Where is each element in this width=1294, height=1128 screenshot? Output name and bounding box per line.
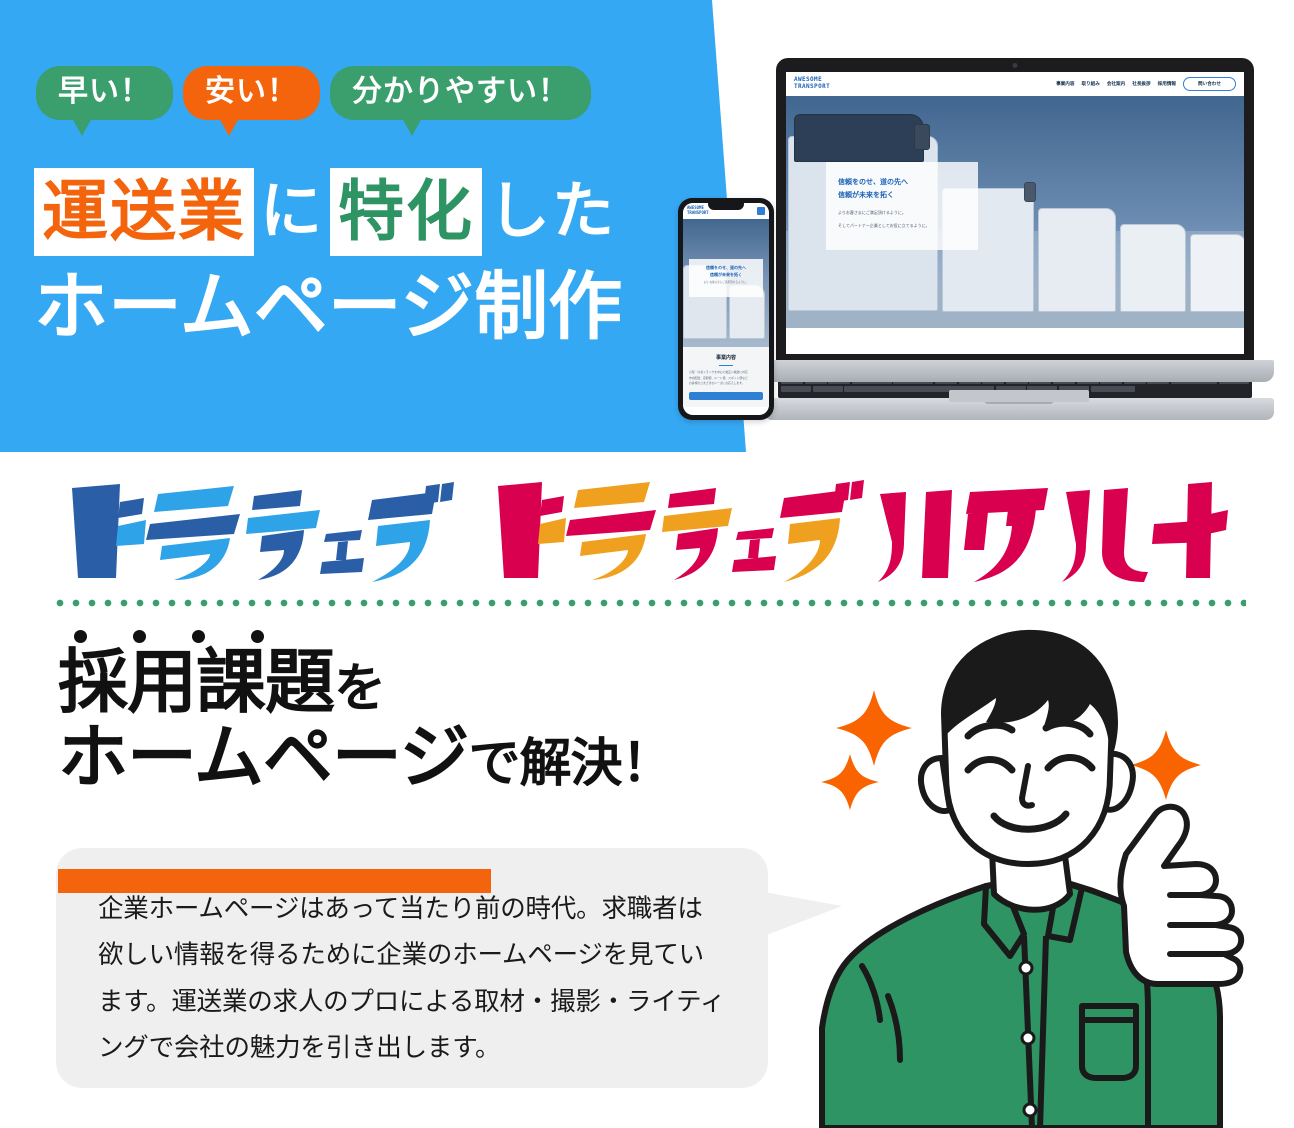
truck-cab-4 <box>1120 224 1186 312</box>
sparkle-icon-right <box>1131 730 1201 800</box>
badge-fast: 早い！ <box>36 66 173 120</box>
sparkle-icon-small-left <box>821 754 879 810</box>
phone-hero-body-1: より お客さまにご満足頂けるように。 <box>695 281 757 286</box>
emphasis-dot-4 <box>251 630 264 643</box>
headline-underline-bar <box>58 869 491 893</box>
laptop-mockup: AWESOME TRANSPORT 事業内容 取り組み 会社案内 社長挨拶 採用… <box>764 58 1274 418</box>
truck-cab-5 <box>1190 234 1244 312</box>
logo-row <box>0 478 1294 588</box>
site-hero-heading-1: 信頼をのせ、道の先へ <box>838 176 966 189</box>
site-logo: AWESOME TRANSPORT <box>794 77 830 91</box>
phone-section-body-3: お客様のさまざまなニーズにお応えします。 <box>689 381 763 386</box>
dotted-divider <box>52 598 1246 608</box>
illustration-thumbs-up-man <box>818 618 1294 1128</box>
laptop-trackpad <box>949 390 1089 402</box>
site-logo-line2: TRANSPORT <box>794 84 830 91</box>
hero-headline-line2: ホームページ制作 <box>34 266 734 349</box>
hero-chip-transport: 運送業 <box>34 168 254 256</box>
truck-windshield-1 <box>794 114 924 162</box>
hero-suffix-shita: した <box>482 181 622 243</box>
site-hero: 信頼をのせ、道の先へ 信頼が未来を拓く よりお客さまにご満足頂けるように。 そし… <box>786 96 1244 328</box>
phone-site-hero: 信頼をのせ、道の先へ 信頼が未来を拓く より お客さまにご満足頂けるように。 <box>683 219 769 347</box>
shirt-button-1 <box>1020 962 1032 974</box>
phone-section-rule <box>719 365 733 366</box>
site-nav-items: 事業内容 取り組み 会社案内 社長挨拶 採用情報 問い合わせ <box>1056 77 1236 91</box>
main-headline-highlight: ホームページ <box>58 718 469 796</box>
logo-doraweb <box>58 480 458 591</box>
laptop-lid: AWESOME TRANSPORT 事業内容 取り組み 会社案内 社長挨拶 採用… <box>776 58 1254 364</box>
main-headline-tail: で解決！ <box>469 735 673 793</box>
site-nav-item-greeting[interactable]: 社長挨拶 <box>1132 81 1150 87</box>
truck-mirror-2 <box>1024 182 1036 202</box>
laptop-screen: AWESOME TRANSPORT 事業内容 取り組み 会社案内 社長挨拶 採用… <box>786 72 1244 354</box>
phone-section-title: 事業内容 <box>689 354 763 361</box>
site-nav-contact-button[interactable]: 問い合わせ <box>1183 77 1236 91</box>
emphasis-dot-3 <box>192 630 205 643</box>
emphasis-dots <box>74 630 778 643</box>
site-navbar: AWESOME TRANSPORT 事業内容 取り組み 会社案内 社長挨拶 採用… <box>786 72 1244 96</box>
truck-cab-3 <box>1038 208 1116 312</box>
phone-screen: AWESOME TRANSPORT 信頼をのせ、道の先へ 信頼が未来を拓く より… <box>683 203 769 415</box>
hamburger-menu-icon[interactable] <box>757 207 765 215</box>
emphasis-dot-2 <box>133 630 146 643</box>
phone-site-logo: AWESOME TRANSPORT <box>687 206 709 216</box>
hero-badge-row: 早い！ 安い！ 分かりやすい！ <box>36 66 591 120</box>
site-hero-heading-2: 信頼が未来を拓く <box>838 189 966 202</box>
site-nav-item-company[interactable]: 会社案内 <box>1107 81 1125 87</box>
shirt-button-2 <box>1022 1032 1034 1044</box>
device-mockups: AWESOME TRANSPORT 事業内容 取り組み 会社案内 社長挨拶 採用… <box>660 40 1294 440</box>
site-nav-item-business[interactable]: 事業内容 <box>1056 81 1074 87</box>
site-nav-item-recruit[interactable]: 採用情報 <box>1158 81 1176 87</box>
main-headline-line1: 採用課題を <box>58 645 778 721</box>
phone-site-logo-line2: TRANSPORT <box>687 211 709 216</box>
phone-hero-card: 信頼をのせ、道の先へ 信頼が未来を拓く より お客さまにご満足頂けるように。 <box>689 259 763 297</box>
sparkle-icon-large-left <box>836 690 912 766</box>
shirt-button-3 <box>1024 1104 1036 1116</box>
phone-site-section: 事業内容 小型・冷凍トラックを中心に幅広い輸送に対応 市内配送、定期便、ルート便… <box>683 347 769 407</box>
site-nav-item-efforts[interactable]: 取り組み <box>1081 81 1099 87</box>
main-headline-particle: を <box>334 660 385 718</box>
hero-headline: 運送業 に 特化 した ホームページ制作 <box>34 168 734 349</box>
site-hero-card: 信頼をのせ、道の先へ 信頼が未来を拓く よりお客さまにご満足頂けるように。 そし… <box>826 162 978 250</box>
badge-easy: 分かりやすい！ <box>330 66 591 120</box>
main-headline-keyword: 採用課題 <box>58 643 334 721</box>
phone-hero-heading-2: 信頼が未来を拓く <box>695 271 757 278</box>
phone-hero-heading-1: 信頼をのせ、道の先へ <box>695 264 757 271</box>
phone-mockup: AWESOME TRANSPORT 信頼をのせ、道の先へ 信頼が未来を拓く より… <box>678 198 774 420</box>
phone-section-button[interactable] <box>689 392 763 400</box>
main-headline: 採用課題を ホームページで解決！ <box>58 630 778 796</box>
hero-chip-specialized: 特化 <box>330 168 482 256</box>
emphasis-dot-1 <box>74 630 87 643</box>
phone-notch <box>708 203 744 210</box>
logo-doraweb-recruit <box>488 478 1228 591</box>
laptop-webcam-icon <box>1013 63 1018 68</box>
laptop-hinge <box>764 360 1274 382</box>
site-hero-body-1: よりお客さまにご満足頂けるように。 <box>838 209 966 217</box>
site-footer-strip <box>786 328 1244 350</box>
truck-mirror-1 <box>914 124 930 150</box>
main-headline-line2: ホームページで解決！ <box>58 719 778 796</box>
badge-cheap: 安い！ <box>183 66 320 120</box>
site-hero-body-2: そしてパートナー企業としてお役に立てるように。 <box>838 222 966 230</box>
hero-particle-ni: に <box>254 181 330 243</box>
